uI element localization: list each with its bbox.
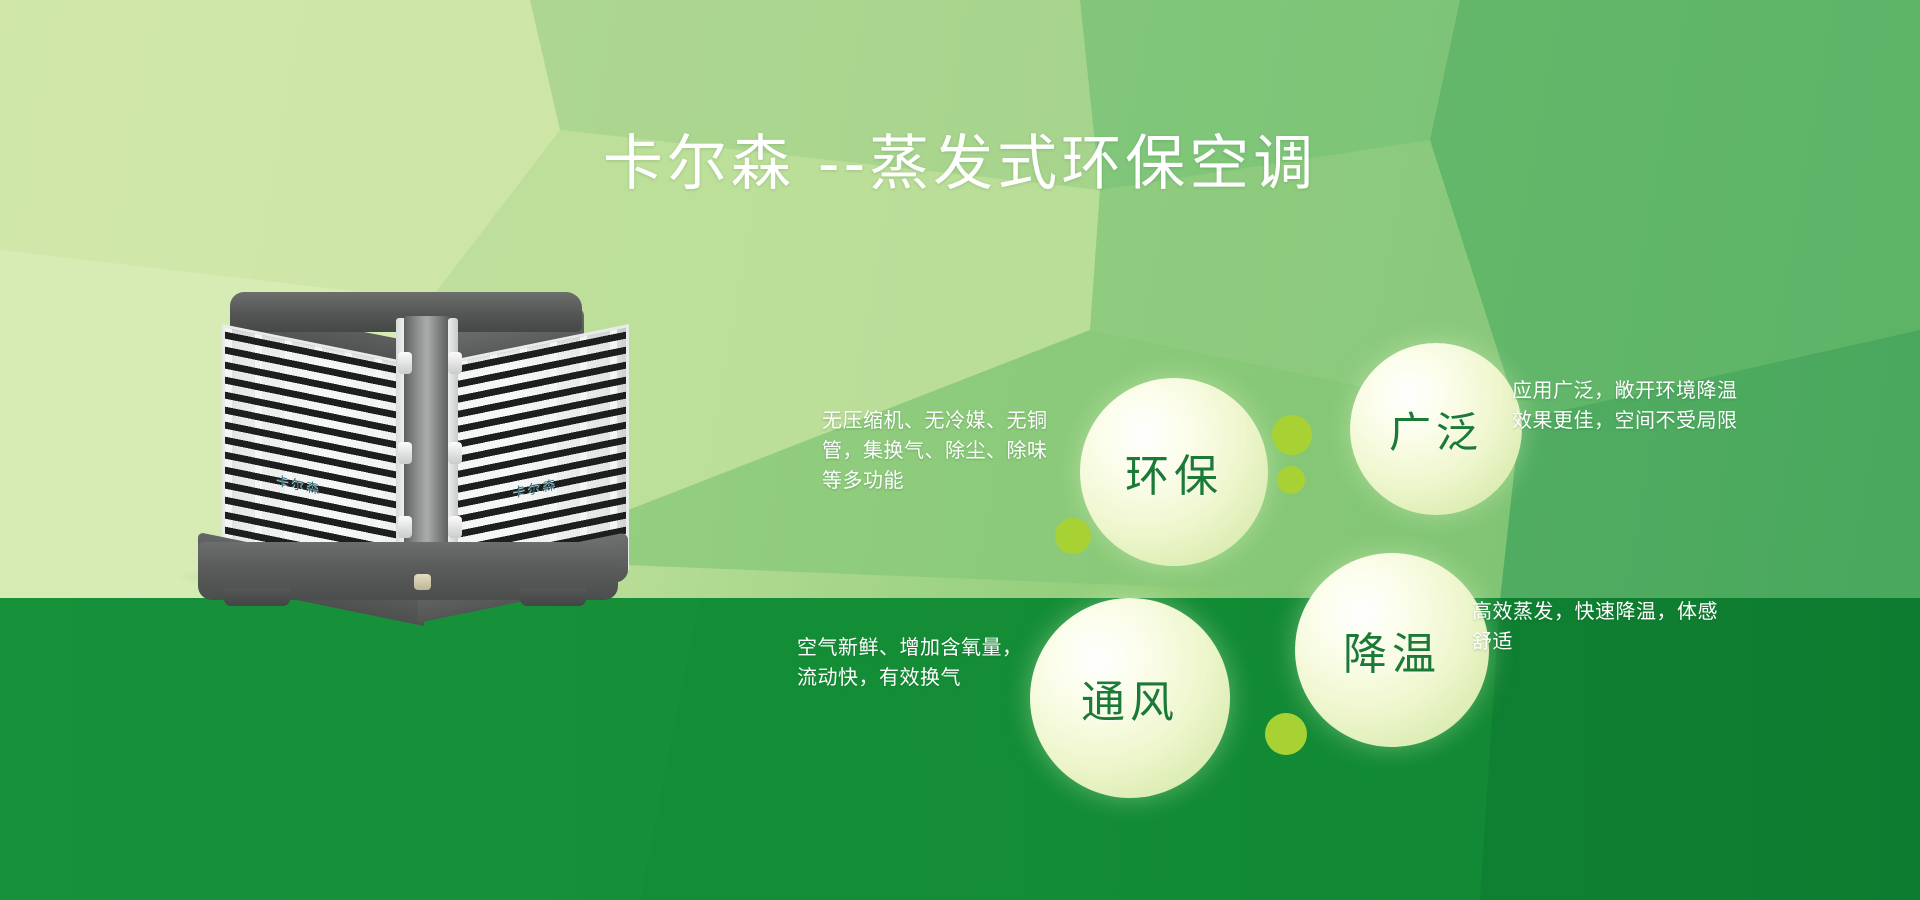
product-foot-left [224, 588, 290, 606]
decorative-dot-lower-right [1265, 713, 1307, 755]
feature-bubble-jiangwen[interactable]: 降温 [1295, 553, 1489, 747]
caption-wide-application: 应用广泛，敞开环境降温效果更佳，空间不受局限 [1512, 375, 1742, 435]
promo-banner: 卡尔森 --蒸发式环保空调 卡尔森 卡尔森 环保 广泛 通风 [0, 0, 1920, 900]
product-hinge-mid-left [398, 442, 412, 464]
product-hinge-lower-left [398, 516, 412, 538]
product-hinge-upper-left [398, 352, 412, 374]
product-drain-valve [414, 574, 431, 590]
page-title: 卡尔森 --蒸发式环保空调 [0, 131, 1920, 197]
decorative-dot-mid-left [1055, 518, 1091, 554]
caption-fresh-air: 空气新鲜、增加含氧量，流动快，有效换气 [797, 632, 1025, 692]
decorative-dot-large-upper [1272, 415, 1312, 455]
caption-no-compressor: 无压缩机、无冷媒、无铜管，集换气、除尘、除味等多功能 [822, 405, 1058, 495]
feature-bubble-tongfeng[interactable]: 通风 [1030, 598, 1230, 798]
decorative-dot-small-upper [1277, 466, 1305, 494]
product-image-evaporative-air-cooler: 卡尔森 卡尔森 [168, 292, 638, 622]
feature-bubble-huanbao[interactable]: 环保 [1080, 378, 1268, 566]
product-hinge-upper-right [448, 352, 462, 374]
product-foot-right [520, 588, 586, 606]
product-hinge-mid-right [448, 442, 462, 464]
feature-bubble-guangfan[interactable]: 广泛 [1350, 343, 1522, 515]
caption-fast-cooling: 高效蒸发，快速降温，体感舒适 [1472, 596, 1732, 656]
product-hinge-lower-right [448, 516, 462, 538]
